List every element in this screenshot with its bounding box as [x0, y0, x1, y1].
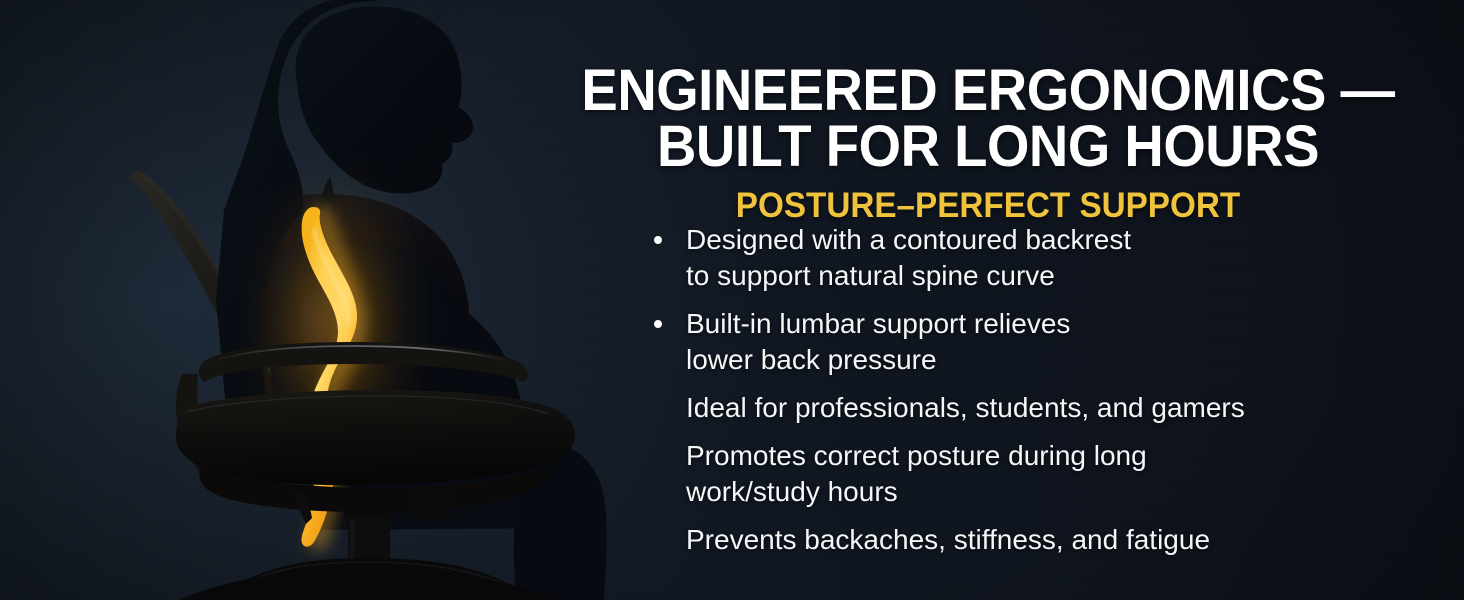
list-item-label: Prevents backaches, stiffness, and fatig…: [686, 524, 1210, 555]
list-item-label: Built-in lumbar support relieves lower b…: [686, 308, 1070, 375]
page-title: ENGINEERED ERGONOMICS — BUILT FOR LONG H…: [579, 63, 1397, 175]
feature-list: Designed with a contoured backrest to su…: [644, 222, 1404, 570]
list-item-label: Designed with a contoured backrest to su…: [686, 224, 1131, 291]
bullet-icon: [654, 236, 662, 244]
page-subtitle: POSTURE–PERFECT SUPPORT: [575, 187, 1402, 225]
bullet-icon: [654, 320, 662, 328]
chair-height-knob: [412, 486, 452, 520]
list-item: Ideal for professionals, students, and g…: [644, 390, 1404, 426]
list-item: Built-in lumbar support relieves lower b…: [644, 306, 1404, 378]
list-item: Prevents backaches, stiffness, and fatig…: [644, 522, 1404, 558]
ergonomic-chair-promo-banner: ENGINEERED ERGONOMICS — BUILT FOR LONG H…: [0, 0, 1464, 600]
chair-seat: [176, 390, 575, 485]
list-item: Designed with a contoured backrest to su…: [644, 222, 1404, 294]
list-item-label: Promotes correct posture during long wor…: [686, 440, 1147, 507]
person-head: [296, 6, 472, 193]
list-item: Promotes correct posture during long wor…: [644, 438, 1404, 510]
list-item-label: Ideal for professionals, students, and g…: [686, 392, 1245, 423]
text-content-column: ENGINEERED ERGONOMICS — BUILT FOR LONG H…: [540, 0, 1440, 600]
